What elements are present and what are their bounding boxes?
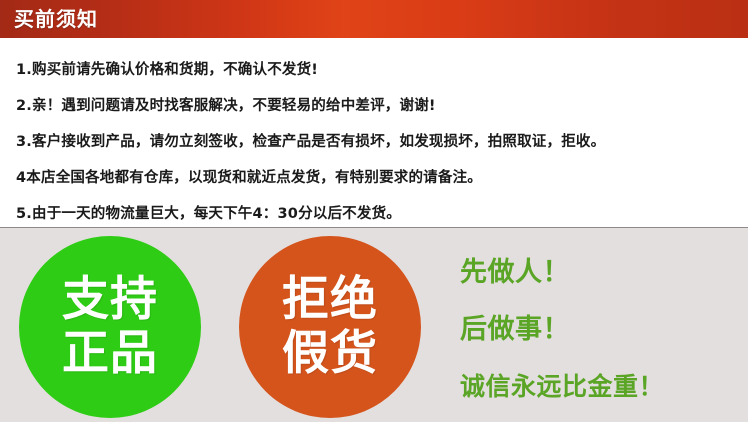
- notice-item-4: 4本店全国各地都有仓库，以现货和就近点发货，有特别要求的请备注。: [16, 160, 742, 196]
- badge-genuine-product-circle: 支持 正品: [19, 236, 201, 418]
- notice-item-1: 1.购买前请先确认价格和货期，不确认不发货!: [16, 52, 742, 88]
- badge-reject-fake-circle: 拒绝 假货: [239, 236, 421, 418]
- section-trust-badges: 支持 正品 拒绝 假货 先做人！ 后做事！ 诚信永远比金重！: [0, 228, 748, 422]
- badge-genuine-line-2: 正品: [62, 327, 158, 381]
- notice-item-2: 2.亲！遇到问题请及时找客服解决，不要轻易的给中差评，谢谢!: [16, 88, 742, 124]
- badge-reject-fake-line-1: 拒绝: [282, 273, 378, 327]
- slogan-line-2: 后做事！: [460, 301, 748, 358]
- badge-reject-fake-line-2: 假货: [282, 327, 378, 381]
- slogan-line-3: 诚信永远比金重！: [460, 358, 748, 415]
- badge-genuine-line-1: 支持: [62, 273, 158, 327]
- slogan-block: 先做人！ 后做事！ 诚信永远比金重！: [460, 244, 748, 415]
- section-notice-list: 1.购买前请先确认价格和货期，不确认不发货! 2.亲！遇到问题请及时找客服解决，…: [0, 38, 748, 227]
- page-title: 买前须知: [14, 9, 98, 29]
- promo-banner-page: 买前须知 1.购买前请先确认价格和货期，不确认不发货! 2.亲！遇到问题请及时找…: [0, 0, 748, 422]
- section-header-banner: 买前须知: [0, 0, 748, 38]
- slogan-line-1: 先做人！: [460, 244, 748, 301]
- notice-item-3: 3.客户接收到产品，请勿立刻签收，检查产品是否有损坏，如发现损坏，拍照取证，拒收…: [16, 124, 742, 160]
- notice-list: 1.购买前请先确认价格和货期，不确认不发货! 2.亲！遇到问题请及时找客服解决，…: [16, 52, 742, 232]
